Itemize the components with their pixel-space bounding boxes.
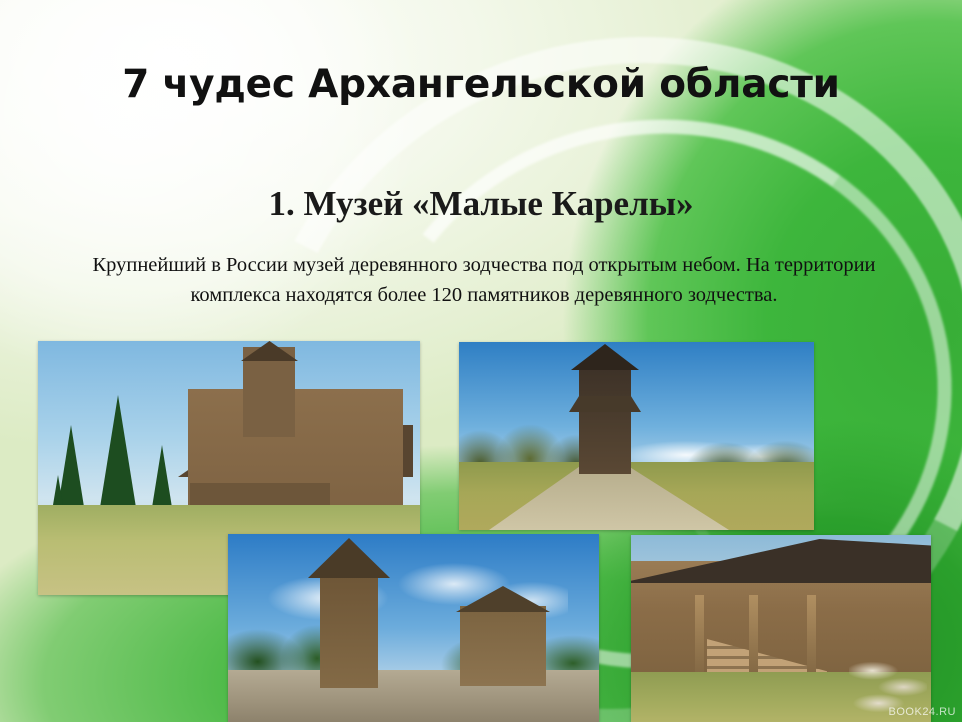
slide-body-text: Крупнейший в России музей деревянного зо… <box>60 250 908 310</box>
presentation-slide: 7 чудес Архангельской области 1. Музей «… <box>0 0 962 722</box>
photo2-bell-tower <box>579 364 631 474</box>
watermark: BOOK24.RU <box>889 706 956 718</box>
photo-log-house <box>631 535 931 722</box>
photo3-bell-tower <box>320 570 378 688</box>
photo2-bell-tower-skirt <box>569 396 641 412</box>
photo3-church <box>460 606 546 686</box>
photo-tall-bell-tower <box>228 534 599 722</box>
photo-bell-tower-road <box>459 342 814 530</box>
slide-subtitle: 1. Музей «Малые Карелы» <box>0 184 962 224</box>
slide-title: 7 чудес Архангельской области <box>0 62 962 107</box>
